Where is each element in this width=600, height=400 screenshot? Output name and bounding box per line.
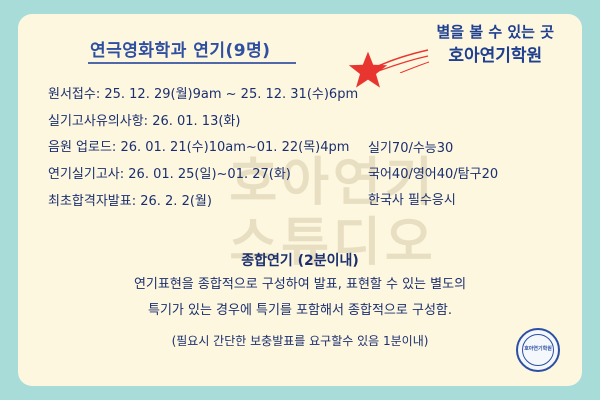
score-item: 국어40/영어40/탐구20 <box>368 162 498 188</box>
title-underline <box>88 62 296 64</box>
schedule-item: 음원 업로드: 26. 01. 21(수)10am~01. 22(목)4pm <box>48 135 358 162</box>
schedule-list: 원서접수: 25. 12. 29(월)9am ~ 25. 12. 31(수)6p… <box>48 82 358 215</box>
brand-line-2: 호아연기학원 <box>437 44 555 69</box>
score-item: 실기70/수능30 <box>368 136 498 162</box>
poster-card: 호아연기스튜디오 연극영화학과 연기(9명) 별을 볼 수 있는 곳 호아연기학… <box>18 14 582 386</box>
academy-logo: 호아연기학원 <box>516 328 560 372</box>
score-item: 한국사 필수응시 <box>368 188 498 214</box>
page-title: 연극영화학과 연기(9명) <box>90 36 271 61</box>
section-note: (필요시 간단한 보충발표를 요구할수 있음 1분이내) <box>18 332 582 349</box>
section-body: 연기표현을 종합적으로 구성하여 발표, 표현할 수 있는 별도의 특기가 있는… <box>18 272 582 324</box>
section-title: 종합연기 (2분이내) <box>18 250 582 270</box>
schedule-item: 원서접수: 25. 12. 29(월)9am ~ 25. 12. 31(수)6p… <box>48 82 358 109</box>
brand-block: 별을 볼 수 있는 곳 호아연기학원 <box>437 22 555 68</box>
academy-logo-text: 호아연기학원 <box>522 334 554 366</box>
body-line: 특기가 있는 경우에 특기를 포함해서 종합적으로 구성함. <box>18 298 582 324</box>
score-ratio-list: 실기70/수능30 국어40/영어40/탐구20 한국사 필수응시 <box>368 136 498 214</box>
schedule-item: 실기고사유의사항: 26. 01. 13(화) <box>48 109 358 136</box>
schedule-item: 최초합격자발표: 26. 2. 2(월) <box>48 189 358 216</box>
body-line: 연기표현을 종합적으로 구성하여 발표, 표현할 수 있는 별도의 <box>18 272 582 298</box>
brand-line-1: 별을 볼 수 있는 곳 <box>437 22 555 44</box>
poster-root: 호아연기스튜디오 연극영화학과 연기(9명) 별을 볼 수 있는 곳 호아연기학… <box>0 0 600 400</box>
schedule-item: 연기실기고사: 26. 01. 25(일)~01. 27(화) <box>48 162 358 189</box>
